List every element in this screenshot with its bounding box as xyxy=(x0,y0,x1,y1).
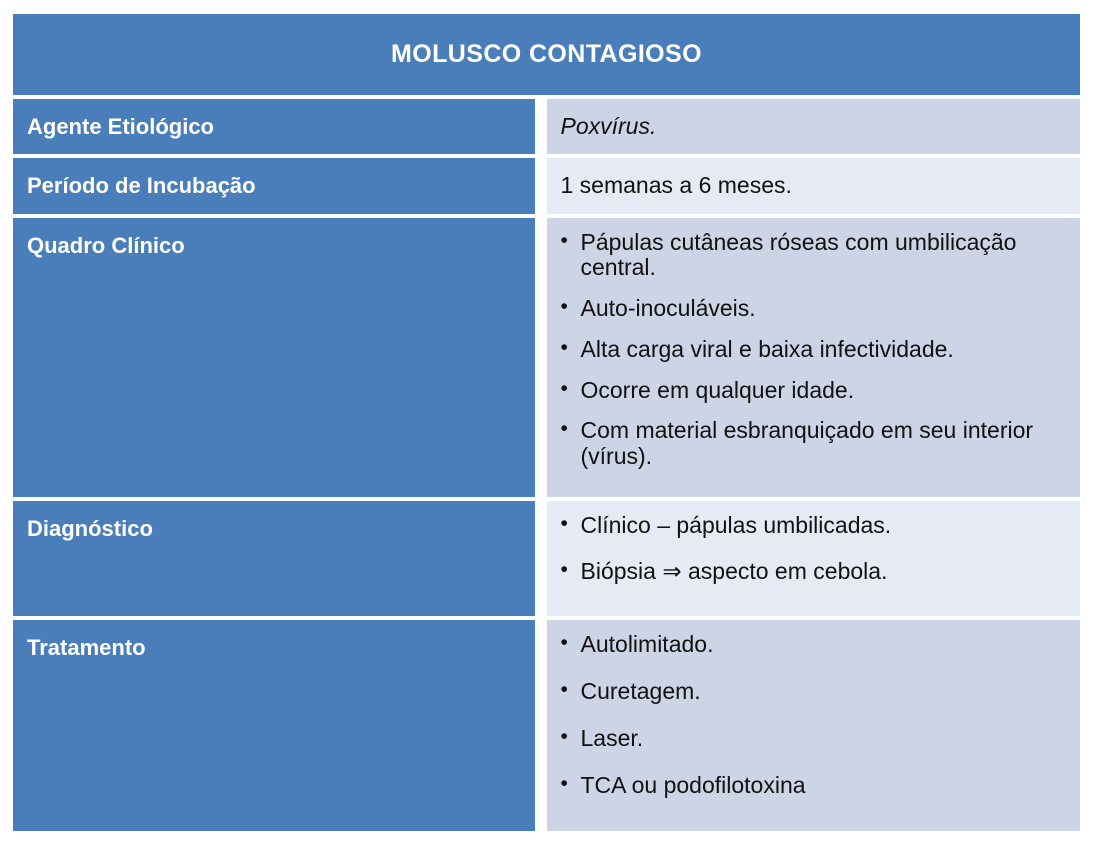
table-title-row: MOLUSCO CONTAGIOSO xyxy=(13,14,1080,99)
row-value-agente-etiologico: Poxvírus. xyxy=(547,99,1081,158)
bullet-list: Autolimitado. Curetagem. Laser. TCA ou p… xyxy=(561,632,1065,798)
table-body: MOLUSCO CONTAGIOSO Agente Etiológico Pox… xyxy=(13,14,1080,831)
list-item: Com material esbranquiçado em seu interi… xyxy=(561,418,1065,470)
list-item: Alta carga viral e baixa infectividade. xyxy=(561,337,1065,363)
value-text: 1 semanas a 6 meses. xyxy=(561,170,1065,201)
page-title: MOLUSCO CONTAGIOSO xyxy=(13,14,1080,99)
row-label-quadro-clinico: Quadro Clínico xyxy=(13,218,547,501)
list-item: Ocorre em qualquer idade. xyxy=(561,378,1065,404)
list-item: Clínico – pápulas umbilicadas. xyxy=(561,513,1065,539)
table-row: Tratamento Autolimitado. Curetagem. Lase… xyxy=(13,620,1080,831)
row-label-diagnostico: Diagnóstico xyxy=(13,501,547,621)
list-item: Auto-inoculáveis. xyxy=(561,296,1065,322)
value-text: Poxvírus. xyxy=(561,111,1065,142)
row-label-tratamento: Tratamento xyxy=(13,620,547,831)
list-item: Curetagem. xyxy=(561,679,1065,705)
table-row: Diagnóstico Clínico – pápulas umbilicada… xyxy=(13,501,1080,621)
list-item: Laser. xyxy=(561,726,1065,752)
list-item: Pápulas cutâneas róseas com umbilicação … xyxy=(561,230,1065,282)
list-item: TCA ou podofilotoxina xyxy=(561,773,1065,799)
slide-canvas: MOLUSCO CONTAGIOSO Agente Etiológico Pox… xyxy=(0,0,1094,868)
table-row: Período de Incubação 1 semanas a 6 meses… xyxy=(13,158,1080,217)
row-value-tratamento: Autolimitado. Curetagem. Laser. TCA ou p… xyxy=(547,620,1081,831)
row-label-periodo-de-incubacao: Período de Incubação xyxy=(13,158,547,217)
bullet-list: Pápulas cutâneas róseas com umbilicação … xyxy=(561,230,1065,470)
row-value-quadro-clinico: Pápulas cutâneas róseas com umbilicação … xyxy=(547,218,1081,501)
list-item: Biópsia ⇒ aspecto em cebola. xyxy=(561,559,1065,585)
disease-info-table: MOLUSCO CONTAGIOSO Agente Etiológico Pox… xyxy=(13,14,1080,831)
table-row: Agente Etiológico Poxvírus. xyxy=(13,99,1080,158)
bullet-list: Clínico – pápulas umbilicadas. Biópsia ⇒… xyxy=(561,513,1065,585)
list-item: Autolimitado. xyxy=(561,632,1065,658)
row-value-periodo-de-incubacao: 1 semanas a 6 meses. xyxy=(547,158,1081,217)
row-value-diagnostico: Clínico – pápulas umbilicadas. Biópsia ⇒… xyxy=(547,501,1081,621)
row-label-agente-etiologico: Agente Etiológico xyxy=(13,99,547,158)
table-row: Quadro Clínico Pápulas cutâneas róseas c… xyxy=(13,218,1080,501)
